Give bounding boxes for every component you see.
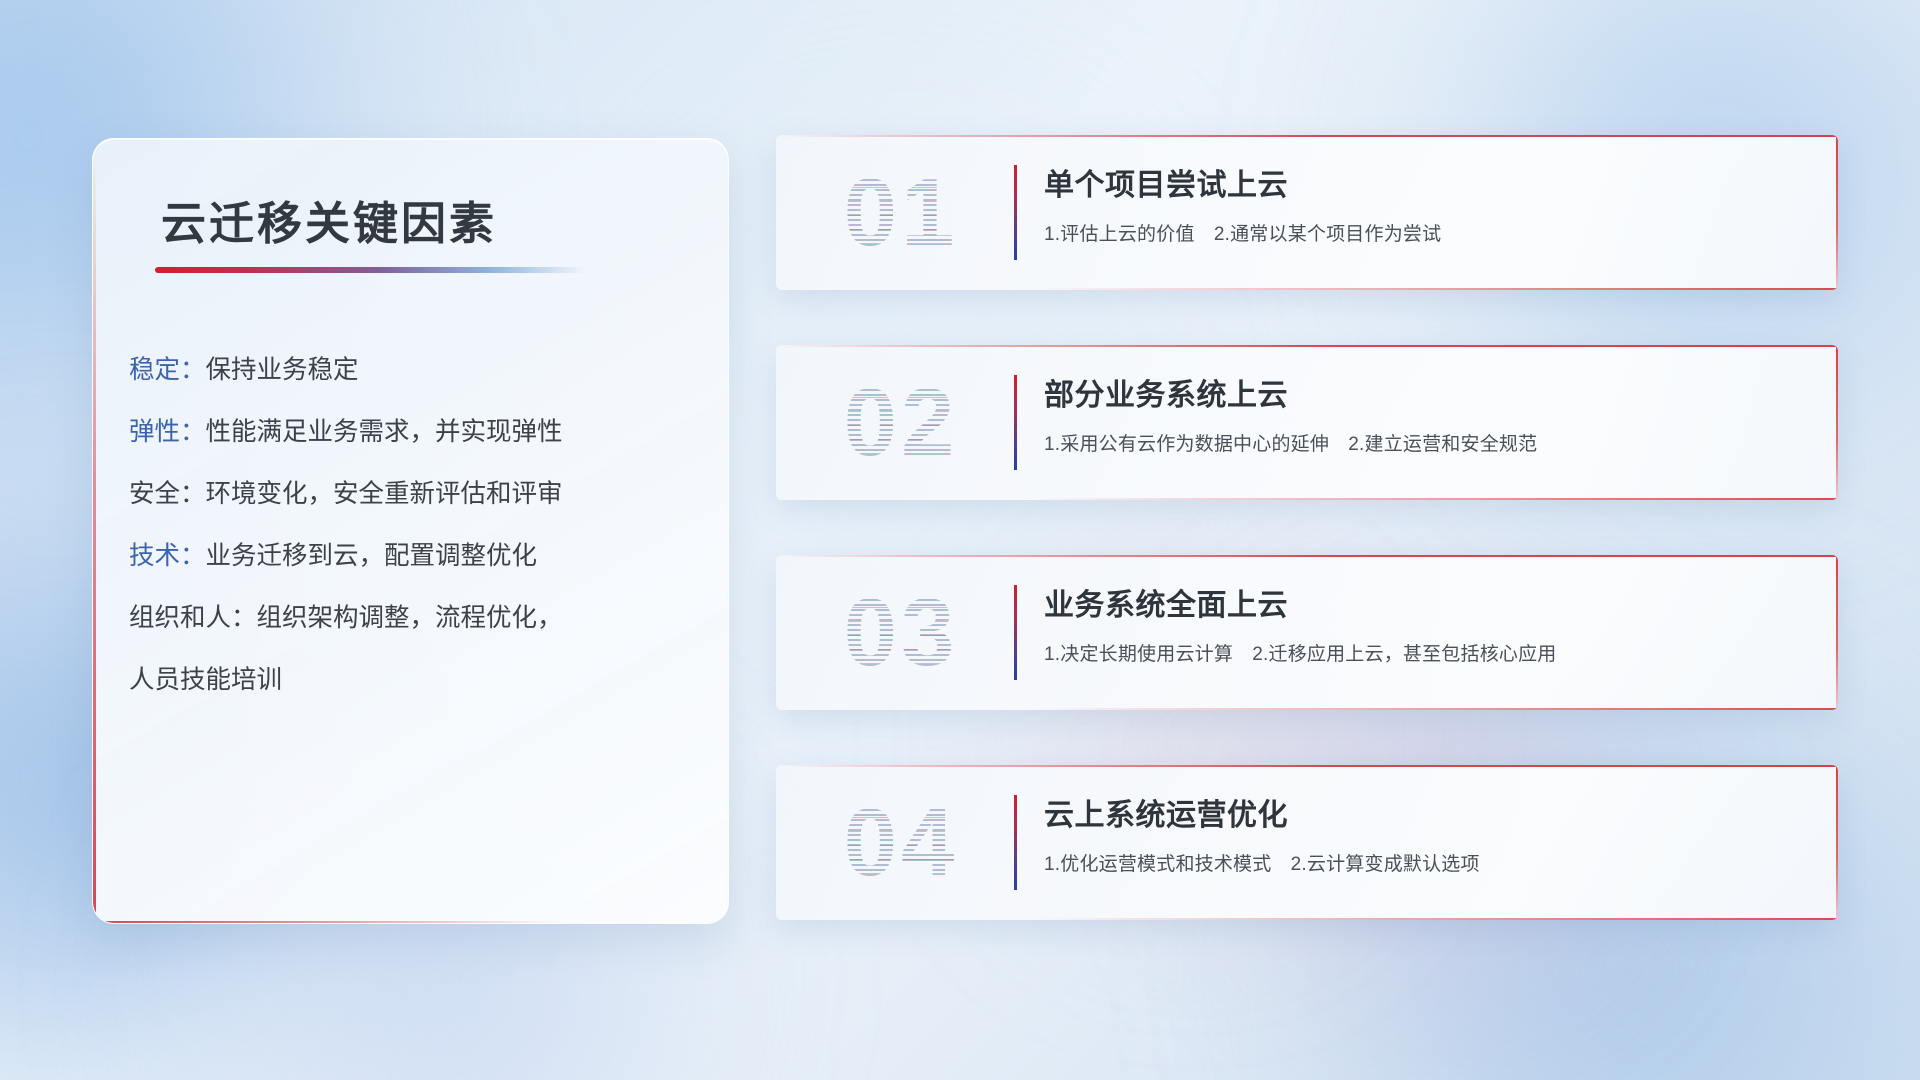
factor-label: 组织和人： — [129, 587, 257, 649]
step-body: 单个项目尝试上云1.评估上云的价值 2.通常以某个项目作为尝试 — [1044, 165, 1808, 249]
card-bottom-accent — [1031, 498, 1838, 500]
step-title: 单个项目尝试上云 — [1044, 165, 1808, 207]
card-right-accent — [1836, 555, 1838, 710]
factor-label: 安全： — [129, 463, 206, 525]
card-top-accent — [776, 555, 1838, 557]
page-title: 云迁移关键因素 — [161, 187, 497, 252]
migration-steps-list: 0101单个项目尝试上云1.评估上云的价值 2.通常以某个项目作为尝试0202部… — [776, 135, 1838, 920]
step-description: 1.采用公有云作为数据中心的延伸 2.建立运营和安全规范 — [1044, 431, 1808, 459]
factor-label: 弹性： — [129, 401, 206, 463]
step-number: 0404 — [806, 789, 996, 897]
card-top-accent — [776, 345, 1838, 347]
card-right-accent — [1836, 765, 1838, 920]
step-title: 业务系统全面上云 — [1044, 585, 1808, 627]
title-underline-accent — [155, 267, 585, 273]
factor-text: 业务迁移到云，配置调整优化 — [206, 525, 538, 587]
card-right-accent — [1836, 135, 1838, 290]
card-bottom-accent — [1031, 918, 1838, 920]
step-number: 0101 — [806, 159, 996, 267]
step-number-glyph-red: 02 — [806, 369, 996, 477]
step-divider-bar — [1014, 585, 1017, 680]
step-number: 0303 — [806, 579, 996, 687]
card-top-accent — [776, 765, 1838, 767]
step-body: 业务系统全面上云1.决定长期使用云计算 2.迁移应用上云，甚至包括核心应用 — [1044, 585, 1808, 669]
factor-text: 人员技能培训 — [129, 649, 282, 711]
step-card[interactable]: 0202部分业务系统上云1.采用公有云作为数据中心的延伸 2.建立运营和安全规范 — [776, 345, 1838, 500]
step-description: 1.决定长期使用云计算 2.迁移应用上云，甚至包括核心应用 — [1044, 641, 1808, 669]
key-factors-panel: 云迁移关键因素 稳定：保持业务稳定弹性：性能满足业务需求，并实现弹性安全：环境变… — [92, 138, 729, 924]
step-body: 云上系统运营优化1.优化运营模式和技术模式 2.云计算变成默认选项 — [1044, 795, 1808, 879]
step-divider-bar — [1014, 795, 1017, 890]
step-description: 1.评估上云的价值 2.通常以某个项目作为尝试 — [1044, 221, 1808, 249]
step-card[interactable]: 0404云上系统运营优化1.优化运营模式和技术模式 2.云计算变成默认选项 — [776, 765, 1838, 920]
factor-row: 人员技能培训 — [129, 649, 702, 711]
step-divider-bar — [1014, 375, 1017, 470]
factor-text: 性能满足业务需求，并实现弹性 — [206, 401, 563, 463]
factor-text: 环境变化，安全重新评估和评审 — [206, 463, 563, 525]
step-card[interactable]: 0101单个项目尝试上云1.评估上云的价值 2.通常以某个项目作为尝试 — [776, 135, 1838, 290]
factor-row: 弹性：性能满足业务需求，并实现弹性 — [129, 401, 702, 463]
step-title: 部分业务系统上云 — [1044, 375, 1808, 417]
step-number: 0202 — [806, 369, 996, 477]
factor-label: 技术： — [129, 525, 206, 587]
step-body: 部分业务系统上云1.采用公有云作为数据中心的延伸 2.建立运营和安全规范 — [1044, 375, 1808, 459]
factor-row: 安全：环境变化，安全重新评估和评审 — [129, 463, 702, 525]
slide-canvas: 云迁移关键因素 稳定：保持业务稳定弹性：性能满足业务需求，并实现弹性安全：环境变… — [0, 0, 1920, 1080]
factor-text: 组织架构调整，流程优化， — [257, 587, 563, 649]
factor-row: 组织和人：组织架构调整，流程优化， — [129, 587, 702, 649]
factor-label: 稳定： — [129, 339, 206, 401]
step-number-glyph-red: 04 — [806, 789, 996, 897]
step-card[interactable]: 0303业务系统全面上云1.决定长期使用云计算 2.迁移应用上云，甚至包括核心应… — [776, 555, 1838, 710]
step-title: 云上系统运营优化 — [1044, 795, 1808, 837]
card-top-accent — [776, 135, 1838, 137]
factor-list: 稳定：保持业务稳定弹性：性能满足业务需求，并实现弹性安全：环境变化，安全重新评估… — [129, 339, 702, 711]
factor-row: 技术：业务迁移到云，配置调整优化 — [129, 525, 702, 587]
card-bottom-accent — [1031, 708, 1838, 710]
step-divider-bar — [1014, 165, 1017, 260]
step-number-glyph-red: 01 — [806, 159, 996, 267]
step-number-glyph-red: 03 — [806, 579, 996, 687]
factor-row: 稳定：保持业务稳定 — [129, 339, 702, 401]
card-bottom-accent — [1031, 288, 1838, 290]
factor-text: 保持业务稳定 — [206, 339, 359, 401]
step-description: 1.优化运营模式和技术模式 2.云计算变成默认选项 — [1044, 851, 1808, 879]
card-right-accent — [1836, 345, 1838, 500]
